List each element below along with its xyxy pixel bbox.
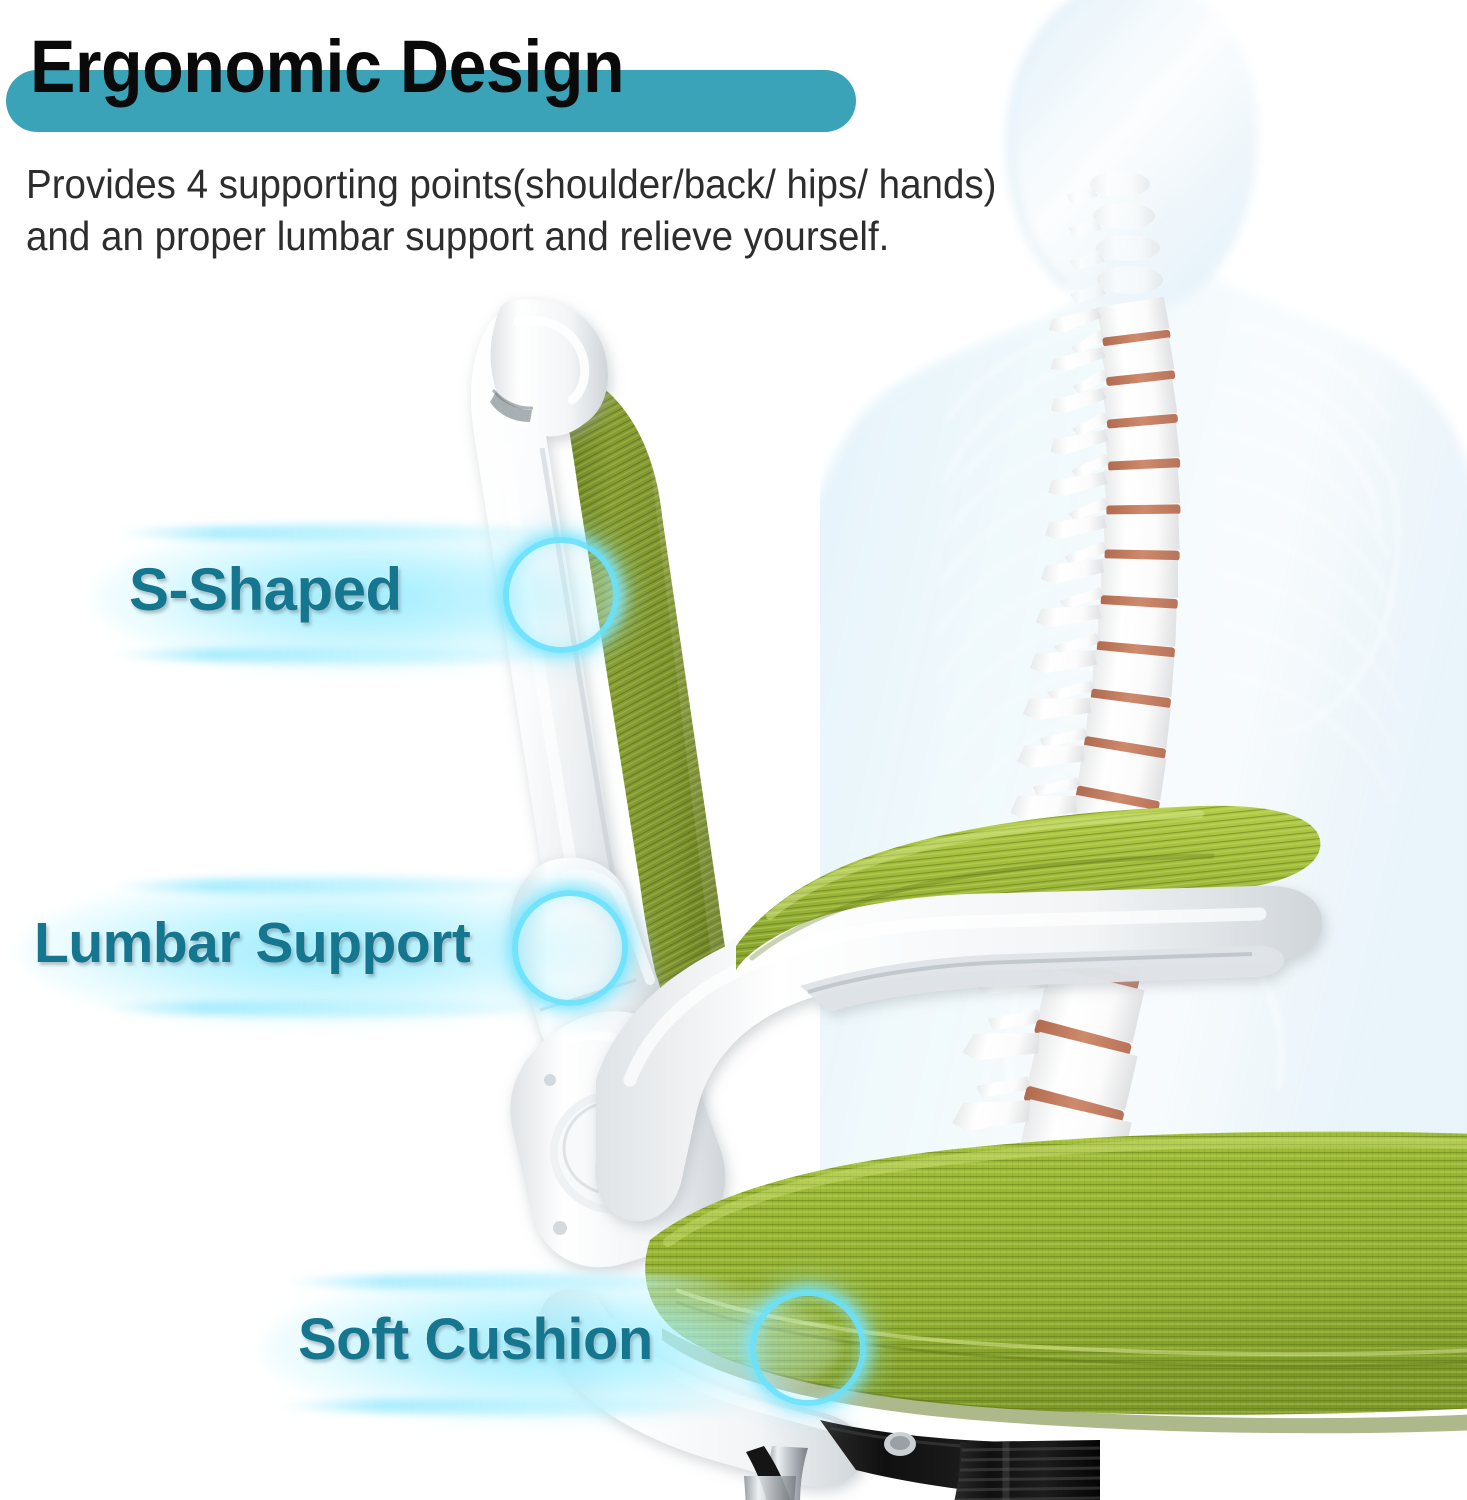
callout-label-s-shaped: S-Shaped (129, 555, 402, 624)
callout-soft-cushion: Soft Cushion (262, 1258, 882, 1443)
highlight-ring (750, 1290, 866, 1406)
glow-streak-bottom (100, 1000, 570, 1016)
product-feature-image: Ergonomic Design Provides 4 supporting p… (0, 0, 1467, 1500)
callout-s-shaped: S-Shaped (95, 505, 675, 690)
glow-streak-bottom (109, 647, 579, 663)
page-subtitle: Provides 4 supporting points(shoulder/ba… (26, 158, 996, 263)
callout-lumbar-support: Lumbar Support (0, 862, 680, 1042)
glow-streak-top (113, 525, 583, 541)
glow-streak-top (282, 1274, 752, 1290)
header-block: Ergonomic Design Provides 4 supporting p… (0, 0, 1467, 290)
highlight-ring (512, 890, 628, 1006)
highlight-ring (503, 537, 619, 653)
callout-label-lumbar-support: Lumbar Support (34, 910, 470, 976)
page-title: Ergonomic Design (30, 24, 624, 109)
glow-streak-top (110, 878, 580, 894)
glow-streak-bottom (276, 1398, 746, 1414)
callout-label-soft-cushion: Soft Cushion (298, 1306, 653, 1373)
